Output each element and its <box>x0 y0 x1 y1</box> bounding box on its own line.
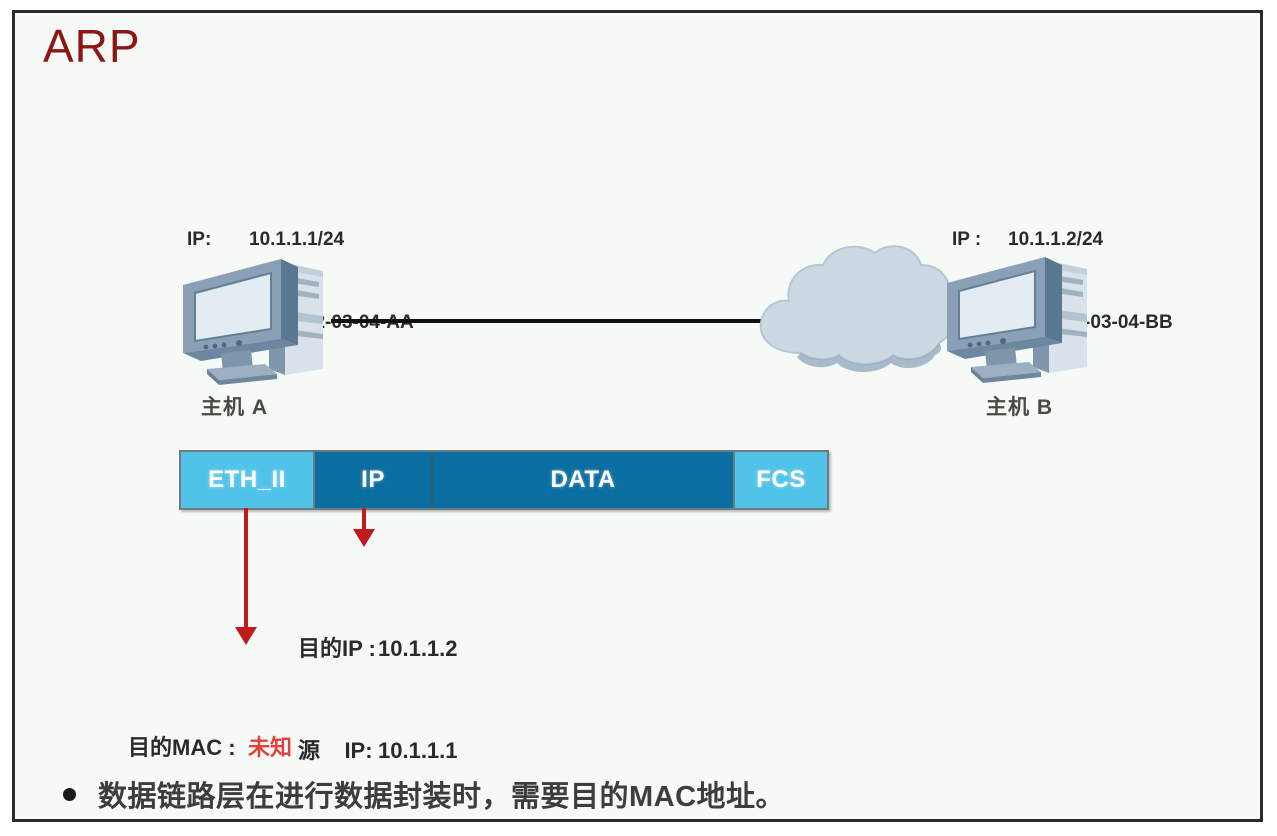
host-a-label: 主机 A <box>201 391 268 421</box>
ip-dest-value: 10.1.1.2 <box>378 636 458 661</box>
ip-dest-key: 目的IP : <box>298 632 378 666</box>
page-title: ARP <box>43 21 141 72</box>
mac-dest-value: 未知 <box>248 735 292 760</box>
slide-canvas: ARP IP:10.1.1.1/24 MAC:00-01-02-03-04-AA… <box>12 10 1263 822</box>
arrow-eth-to-mac-head <box>235 627 257 645</box>
frame-segment-fcs[interactable]: FCS <box>735 452 827 508</box>
mac-dest-line: 目的MAC :未知 <box>128 731 439 765</box>
frame-segment-ip[interactable]: IP <box>315 452 433 508</box>
network-cloud-icon <box>743 235 963 385</box>
mac-dest-key: 目的MAC : <box>128 731 248 765</box>
arrow-ip-to-ipdetail-head <box>353 529 375 547</box>
footer-bullet-row: 数据链路层在进行数据封装时，需要目的MAC地址。 <box>63 773 785 815</box>
network-link-line <box>331 319 775 323</box>
frame-encapsulation-bar: ETH_II IP DATA FCS <box>179 450 829 510</box>
computer-icon-host-a <box>173 241 343 386</box>
computer-icon-host-b <box>937 239 1107 384</box>
arrow-eth-to-mac-shaft <box>244 508 248 630</box>
bullet-dot-icon <box>63 788 76 801</box>
frame-segment-data[interactable]: DATA <box>433 452 735 508</box>
host-b-label: 主机 B <box>986 391 1053 421</box>
frame-segment-eth-ii[interactable]: ETH_II <box>181 452 315 508</box>
footer-bullet-text: 数据链路层在进行数据封装时，需要目的MAC地址。 <box>98 773 785 815</box>
ip-dest-line: 目的IP :10.1.1.2 <box>298 632 458 666</box>
